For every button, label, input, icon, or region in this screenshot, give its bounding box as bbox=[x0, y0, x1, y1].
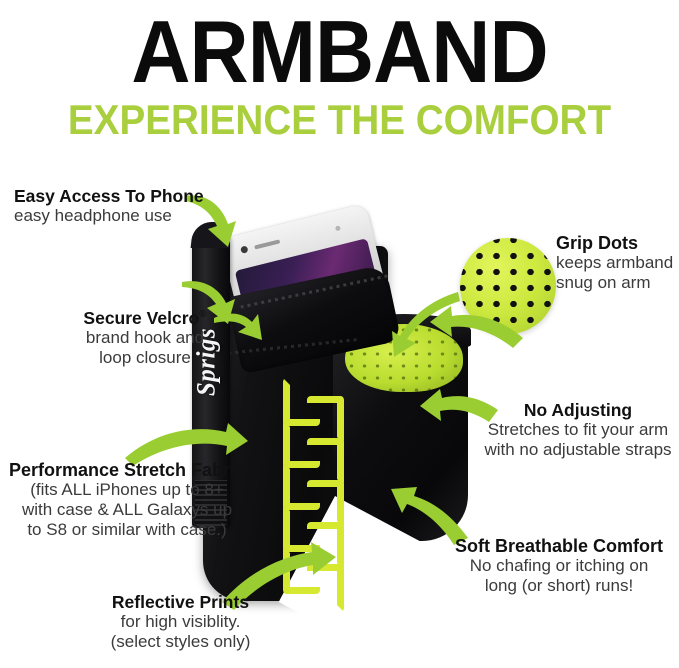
product-photo: Sprigs bbox=[185, 228, 475, 628]
callout-easy-access-head: Easy Access To Phone bbox=[14, 186, 214, 206]
callout-easy-access-line-0: easy headphone use bbox=[14, 206, 214, 226]
callout-easy-access: Easy Access To Phone easy headphone use bbox=[14, 186, 214, 226]
callout-performance-fabric-head: Performance Stretch Fabric bbox=[2, 460, 252, 480]
callout-soft-breathable-line-0: No chafing or itching on bbox=[440, 556, 678, 576]
callout-performance-fabric: Performance Stretch Fabric (fits ALL iPh… bbox=[2, 460, 252, 540]
callout-no-adjusting-line-0: Stretches to fit your arm bbox=[478, 420, 678, 440]
callout-grip-dots-head: Grip Dots bbox=[556, 233, 679, 253]
callout-reflective-prints-head: Reflective Prints bbox=[78, 592, 283, 612]
page-title: ARMBAND bbox=[24, 0, 655, 98]
callout-secure-velcro-head-text: Secure Velcro bbox=[83, 308, 199, 328]
callout-soft-breathable-line-1: long (or short) runs! bbox=[440, 576, 678, 596]
callout-grip-dots: Grip Dots keeps armband snug on arm bbox=[556, 233, 679, 293]
callout-reflective-prints: Reflective Prints for high visiblity. (s… bbox=[78, 592, 283, 652]
armband-infographic: ARMBAND EXPERIENCE THE COMFORT Sprig bbox=[0, 0, 679, 664]
callout-secure-velcro: Secure Velcro® brand hook and loop closu… bbox=[50, 308, 240, 368]
callout-secure-velcro-head: Secure Velcro® bbox=[50, 308, 240, 328]
callout-no-adjusting: No Adjusting Stretches to fit your arm w… bbox=[478, 400, 678, 460]
callout-performance-fabric-line-0: (fits ALL iPhones up to 8+ bbox=[2, 480, 252, 500]
callout-reflective-prints-line-1: (select styles only) bbox=[78, 632, 283, 652]
callout-no-adjusting-line-1: with no adjustable straps bbox=[478, 440, 678, 460]
registered-trademark-icon: ® bbox=[199, 309, 206, 320]
header-block: ARMBAND EXPERIENCE THE COMFORT bbox=[0, 0, 679, 142]
callout-soft-breathable: Soft Breathable Comfort No chafing or it… bbox=[440, 536, 678, 596]
callout-secure-velcro-line-1: loop closure bbox=[50, 348, 240, 368]
callout-no-adjusting-head: No Adjusting bbox=[478, 400, 678, 420]
callout-secure-velcro-line-0: brand hook and bbox=[50, 328, 240, 348]
grip-dots-detail-image bbox=[460, 238, 556, 334]
callout-grip-dots-line-0: keeps armband bbox=[556, 253, 679, 273]
callout-performance-fabric-line-1: with case & ALL Galaxys up bbox=[2, 500, 252, 520]
grip-dots-pattern bbox=[460, 238, 556, 334]
reflective-print-pattern bbox=[281, 378, 341, 616]
page-subtitle: EXPERIENCE THE COMFORT bbox=[27, 98, 652, 142]
callout-soft-breathable-head: Soft Breathable Comfort bbox=[440, 536, 678, 556]
callout-reflective-prints-line-0: for high visiblity. bbox=[78, 612, 283, 632]
callout-performance-fabric-line-2: to S8 or similar with case.) bbox=[2, 520, 252, 540]
callout-grip-dots-line-1: snug on arm bbox=[556, 273, 679, 293]
